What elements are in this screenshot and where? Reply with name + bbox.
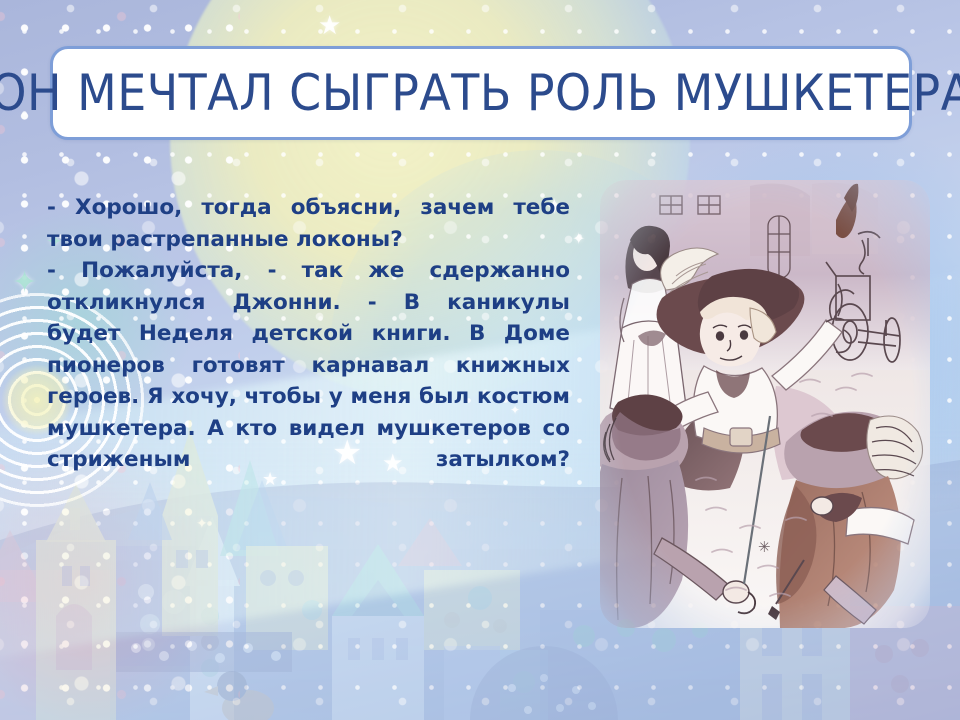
star-icon: ✦ (572, 232, 585, 248)
paragraph-1: - Хорошо, тогда объясни, зачем тебе твои… (47, 192, 570, 255)
page-title: ОН МЕЧТАЛ СЫГРАТЬ РОЛЬ МУШКЕТЕРА (0, 64, 960, 122)
slide: ★ ✦ ✦ ✦ ✦ ✦ ★ ★ ★ ★ ✦ ✦ (0, 0, 960, 720)
musketeer-illustration: ✳ (600, 180, 930, 628)
musketeer-illustration-art: ✳ (600, 180, 930, 628)
body-text: - Хорошо, тогда объясни, зачем тебе твои… (47, 192, 570, 507)
star-icon: ✦ (12, 268, 37, 298)
title-box: ОН МЕЧТАЛ СЫГРАТЬ РОЛЬ МУШКЕТЕРА (50, 46, 912, 140)
paragraph-2: - Пожалуйста, - так же сдержанно откликн… (47, 255, 570, 507)
sparkle-glyph: ✳ (758, 539, 771, 556)
star-icon: ★ (318, 12, 341, 38)
